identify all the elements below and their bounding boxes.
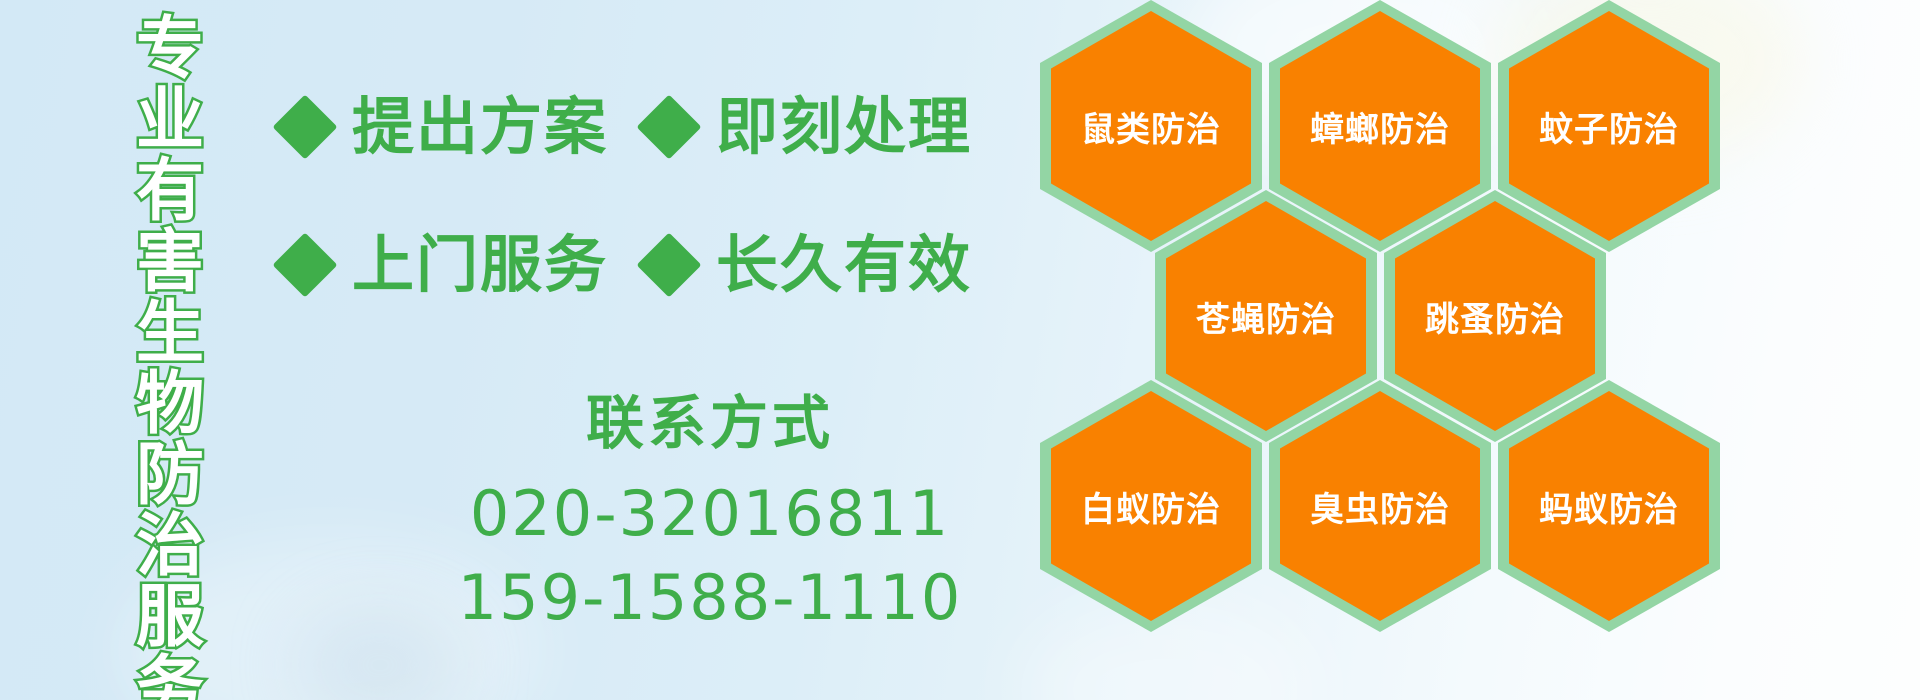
service-label: 白蚁防治 (1081, 482, 1221, 531)
service-label: 跳蚤防治 (1425, 292, 1565, 341)
diamond-icon (636, 94, 701, 159)
service-label: 蚊子防治 (1539, 102, 1679, 151)
feature-label: 提出方案 (352, 96, 608, 158)
vertical-slogan-char: 业 (136, 85, 204, 156)
service-hex-termite[interactable]: 白蚁防治 (1040, 380, 1262, 632)
vertical-slogan: 专 业 有 害 生 物 防 治 服 务 (118, 14, 222, 686)
vertical-slogan-char: 害 (136, 227, 204, 298)
feature-row-1: 提出方案 即刻处理 (282, 96, 988, 158)
contact-block: 联系方式 020-32016811 159-1588-1110 (400, 390, 1020, 640)
pest-control-banner: 专 业 有 害 生 物 防 治 服 务 提出方案 即刻处理 上门服务 长久有效 … (0, 0, 1920, 700)
diamond-icon (636, 232, 701, 297)
service-honeycomb: 鼠类防治 蟑螂防治 蚊子防治 苍蝇防治 跳蚤防治 白蚁防治 (1040, 0, 1800, 700)
service-label: 鼠类防治 (1081, 102, 1221, 151)
service-hex-ant[interactable]: 蚂蚁防治 (1498, 380, 1720, 632)
service-label: 蚂蚁防治 (1539, 482, 1679, 531)
diamond-icon (272, 232, 337, 297)
diamond-icon (272, 94, 337, 159)
service-hex-bedbug[interactable]: 臭虫防治 (1269, 380, 1491, 632)
service-label: 苍蝇防治 (1196, 292, 1336, 341)
vertical-slogan-char: 治 (136, 511, 204, 582)
vertical-slogan-char: 服 (136, 582, 204, 653)
contact-title: 联系方式 (400, 390, 1020, 456)
phone-number-mobile[interactable]: 159-1588-1110 (400, 556, 1020, 640)
vertical-slogan-char: 防 (136, 440, 204, 511)
service-label: 蟑螂防治 (1310, 102, 1450, 151)
vertical-slogan-char: 专 (136, 14, 204, 85)
phone-number-landline[interactable]: 020-32016811 (400, 472, 1020, 556)
vertical-slogan-char: 务 (136, 653, 204, 700)
feature-label: 上门服务 (352, 234, 608, 296)
vertical-slogan-char: 有 (136, 156, 204, 227)
vertical-slogan-char: 生 (136, 298, 204, 369)
feature-label: 即刻处理 (716, 96, 972, 158)
service-label: 臭虫防治 (1310, 482, 1450, 531)
feature-label: 长久有效 (716, 234, 972, 296)
feature-row-2: 上门服务 长久有效 (282, 234, 988, 296)
vertical-slogan-char: 物 (136, 369, 204, 440)
